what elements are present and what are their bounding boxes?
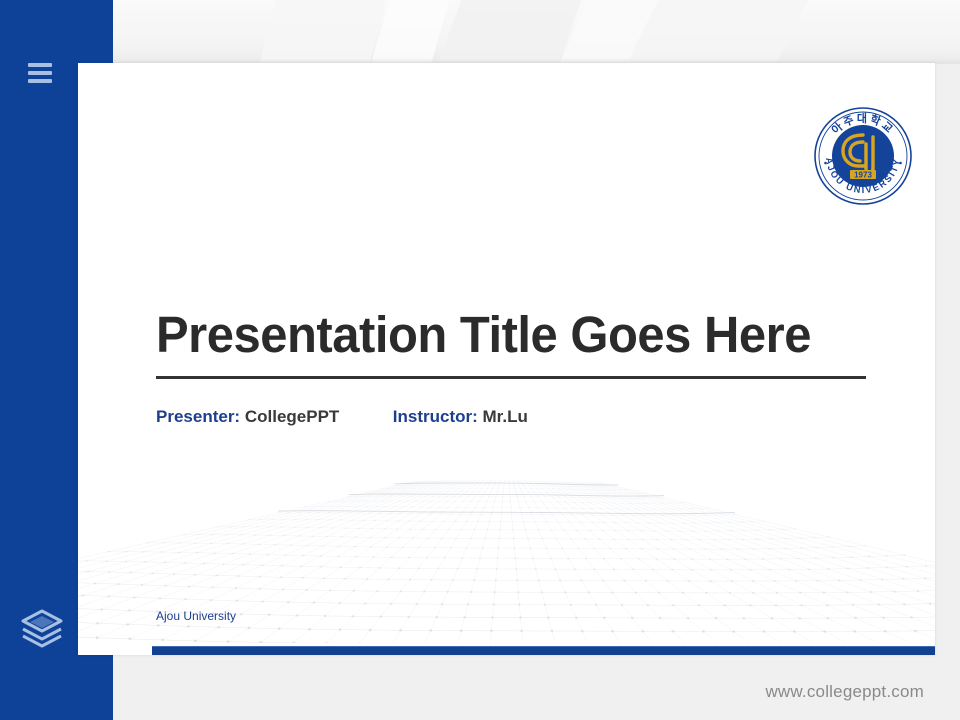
slide-bottom-accent-bar: [152, 646, 935, 655]
presenter-value: CollegePPT: [245, 407, 339, 426]
page-title: Presentation Title Goes Here: [156, 308, 840, 362]
byline: Presenter: CollegePPT Instructor: Mr.Lu: [156, 407, 528, 427]
slide-footer-label: Ajou University: [156, 609, 236, 623]
instructor-label: Instructor:: [393, 407, 478, 426]
ribbon-shape-1: [241, 0, 396, 64]
ajou-university-logo-icon: 아주대학교 AJOU UNIVERSITY 1973: [813, 106, 913, 206]
title-underline-rule: [156, 376, 866, 379]
hamburger-bar-2: [28, 71, 52, 75]
hamburger-bar-3: [28, 79, 52, 83]
hamburger-menu-icon[interactable]: [28, 63, 52, 83]
title-block: Presentation Title Goes Here: [156, 308, 868, 379]
svg-text:1973: 1973: [854, 170, 872, 179]
hamburger-bar-1: [28, 63, 52, 67]
presentation-slide: 아주대학교 AJOU UNIVERSITY 1973 Presentation …: [78, 63, 935, 655]
site-url: www.collegeppt.com: [765, 682, 924, 702]
layers-stack-icon[interactable]: [18, 604, 66, 652]
presenter-label: Presenter:: [156, 407, 240, 426]
top-decorative-band: [113, 0, 960, 64]
instructor-value: Mr.Lu: [483, 407, 528, 426]
